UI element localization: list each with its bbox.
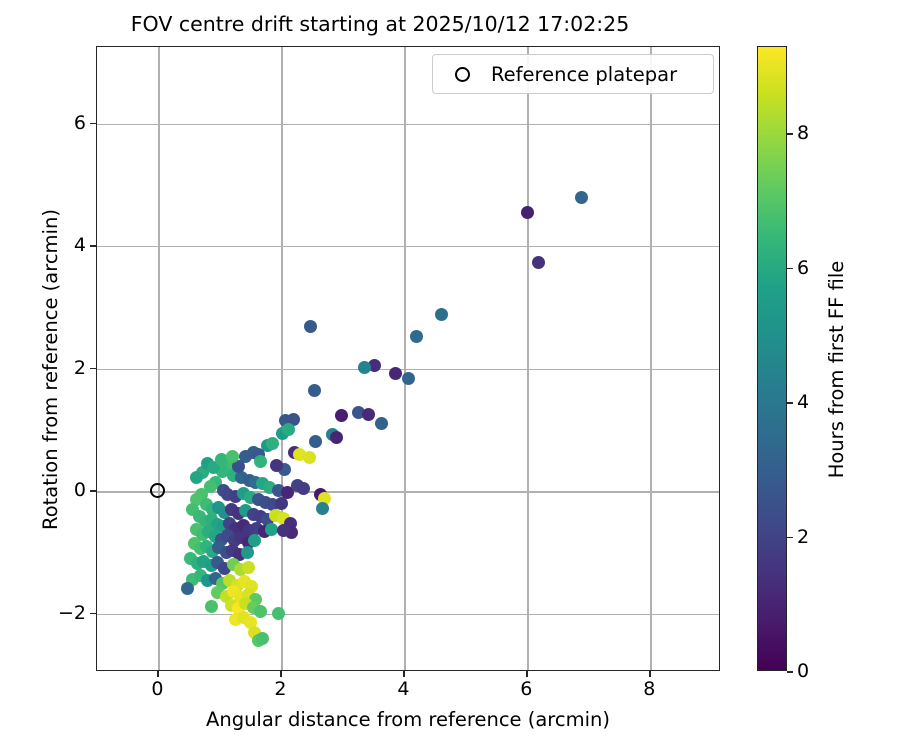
chart-title: FOV centre drift starting at 2025/10/12 … (0, 12, 760, 36)
scatter-point (435, 308, 448, 321)
reference-platepar-marker (150, 483, 165, 498)
x-tick-label: 2 (274, 678, 286, 700)
x-tick-mark (280, 671, 282, 677)
scatter-point (254, 455, 267, 468)
y-tick-label: 6 (74, 112, 86, 134)
scatter-point (308, 384, 321, 397)
x-axis-label: Angular distance from reference (arcmin) (96, 708, 720, 731)
scatter-point (256, 632, 269, 645)
gridline-horizontal (97, 124, 719, 125)
scatter-point (190, 471, 203, 484)
gridline-vertical (650, 47, 651, 670)
colorbar-tick-mark (787, 268, 793, 270)
y-tick-mark (90, 368, 96, 370)
scatter-point (389, 367, 402, 380)
y-tick-mark (90, 245, 96, 247)
scatter-point (303, 451, 316, 464)
scatter-point (242, 561, 255, 574)
scatter-point (330, 431, 343, 444)
colorbar-tick-mark (787, 402, 793, 404)
x-tick-mark (526, 671, 528, 677)
scatter-point (205, 600, 218, 613)
x-tick-label: 4 (397, 678, 409, 700)
colorbar-tick-mark (787, 671, 793, 673)
scatter-point (270, 459, 283, 472)
colorbar-tick-label: 0 (797, 660, 809, 682)
gridline-horizontal (97, 246, 719, 247)
scatter-point (575, 191, 588, 204)
x-tick-label: 8 (643, 678, 655, 700)
y-tick-mark (90, 123, 96, 125)
scatter-point (265, 523, 278, 536)
colorbar-tick-label: 2 (797, 526, 809, 548)
scatter-point (304, 320, 317, 333)
colorbar-tick-label: 4 (797, 391, 809, 413)
y-tick-label: 2 (74, 357, 86, 379)
scatter-point (316, 502, 329, 515)
colorbar-tick-mark (787, 133, 793, 135)
open-circle-icon (455, 67, 470, 82)
scatter-point (358, 361, 371, 374)
colorbar-tick-label: 6 (797, 257, 809, 279)
y-axis-label: Rotation from reference (arcmin) (39, 57, 62, 682)
legend-marker-wrap (433, 67, 491, 82)
gridline-horizontal (97, 369, 719, 370)
gridline-vertical (527, 47, 528, 670)
figure-container: FOV centre drift starting at 2025/10/12 … (0, 0, 900, 750)
scatter-point (254, 605, 267, 618)
scatter-point (335, 409, 348, 422)
scatter-point (309, 435, 322, 448)
y-tick-mark (90, 613, 96, 615)
x-tick-mark (649, 671, 651, 677)
gridline-vertical (158, 47, 159, 670)
gridline-horizontal (97, 491, 719, 492)
colorbar-label: Hours from first FF file (825, 57, 848, 682)
scatter-plot-axes (96, 46, 720, 671)
y-tick-label: 0 (74, 479, 86, 501)
scatter-point (241, 546, 254, 559)
scatter-point (402, 372, 415, 385)
y-tick-label: −2 (58, 602, 86, 624)
scatter-point (375, 417, 388, 430)
gridline-vertical (281, 47, 282, 670)
gridline-vertical (404, 47, 405, 670)
scatter-point (266, 437, 279, 450)
colorbar-container (757, 46, 787, 671)
legend-label: Reference platepar (491, 63, 677, 86)
y-tick-label: 4 (74, 234, 86, 256)
x-tick-mark (403, 671, 405, 677)
x-tick-mark (157, 671, 159, 677)
legend: Reference platepar (432, 54, 714, 94)
gridline-horizontal (97, 614, 719, 615)
scatter-point (272, 607, 285, 620)
scatter-point (275, 497, 288, 510)
colorbar-gradient (757, 46, 787, 671)
y-tick-mark (90, 490, 96, 492)
scatter-point (532, 256, 545, 269)
x-tick-label: 6 (520, 678, 532, 700)
scatter-point (181, 582, 194, 595)
x-tick-label: 0 (151, 678, 163, 700)
scatter-point (248, 534, 261, 547)
scatter-point (410, 330, 423, 343)
colorbar-tick-label: 8 (797, 122, 809, 144)
scatter-point (521, 206, 534, 219)
scatter-point (362, 408, 375, 421)
scatter-point (297, 482, 310, 495)
scatter-point (282, 423, 295, 436)
colorbar-tick-mark (787, 537, 793, 539)
